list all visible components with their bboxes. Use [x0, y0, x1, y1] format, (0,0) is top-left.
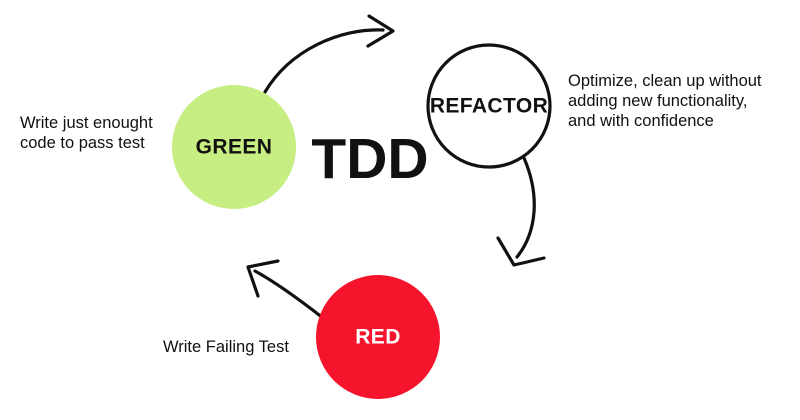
arrow-green-to-refactor: [265, 16, 393, 92]
node-red[interactable]: RED: [316, 275, 440, 399]
node-green-label: GREEN: [196, 136, 273, 159]
annotation-refactor-note-line1: Optimize, clean up without: [568, 72, 762, 90]
node-green[interactable]: GREEN: [172, 85, 296, 209]
annotation-red-note-line1: Write Failing Test: [163, 338, 289, 356]
annotation-refactor-note-line2: adding new functionality,: [568, 92, 747, 110]
annotation-green-note-line1: Write just enought: [20, 114, 153, 132]
arrow-red-to-green: [248, 261, 323, 318]
arrow-refactor-to-red-path: [517, 158, 534, 257]
arrow-refactor-to-red: [498, 158, 544, 265]
tdd-cycle-diagram: GREEN REFACTOR RED TDD Write just enough…: [0, 0, 800, 420]
page-title: TDD: [311, 127, 428, 191]
annotation-refactor-note: Optimize, clean up without adding new fu…: [568, 72, 762, 130]
node-refactor-label: REFACTOR: [430, 95, 548, 118]
arrow-red-to-green-path: [255, 271, 323, 318]
tdd-diagram-canvas: GREEN REFACTOR RED TDD Write just enough…: [0, 0, 800, 420]
arrow-green-to-refactor-path: [265, 30, 383, 92]
annotation-red-note: Write Failing Test: [163, 338, 289, 356]
annotation-refactor-note-line3: and with confidence: [568, 112, 714, 130]
node-red-label: RED: [355, 326, 401, 349]
annotation-green-note-line2: code to pass test: [20, 134, 145, 152]
annotation-green-note: Write just enought code to pass test: [20, 114, 153, 152]
node-refactor[interactable]: REFACTOR: [428, 45, 550, 167]
arrow-red-to-green-head: [248, 261, 278, 296]
